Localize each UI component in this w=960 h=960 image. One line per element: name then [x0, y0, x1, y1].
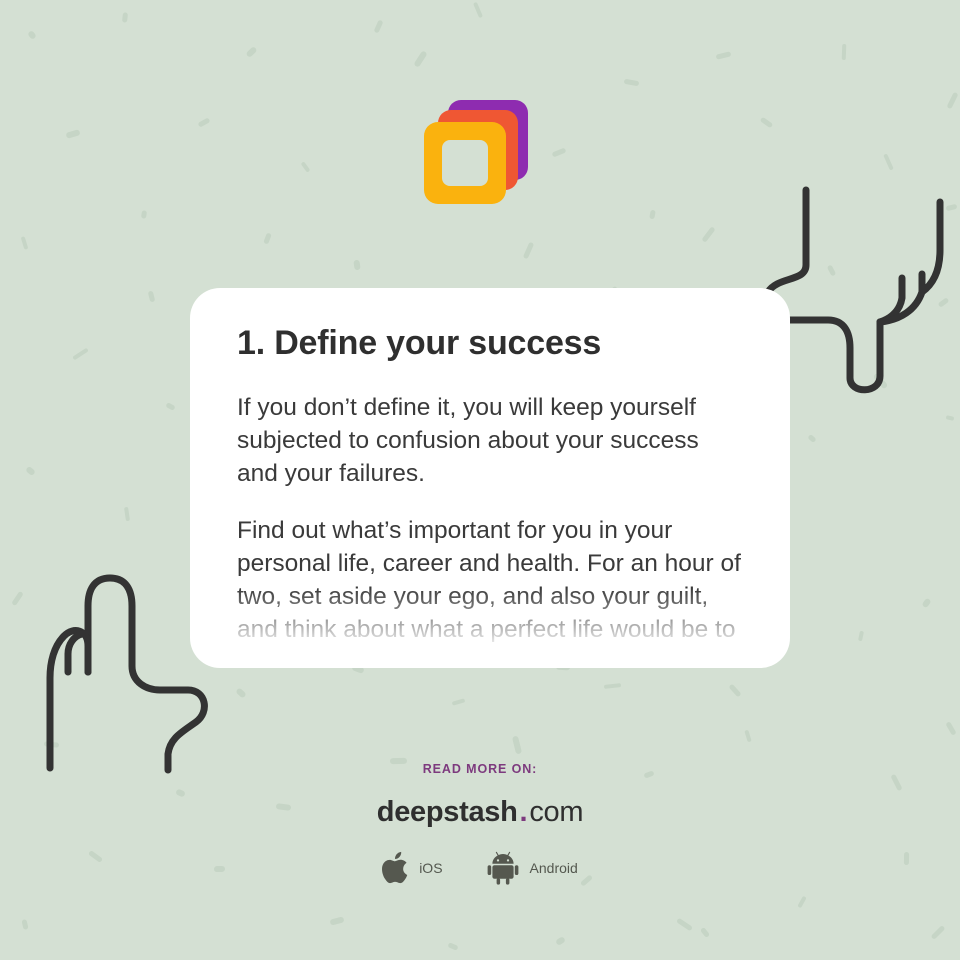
- confetti-speck: [624, 79, 640, 87]
- ios-store-label: iOS: [419, 860, 442, 876]
- card-paragraph-2: Find out what’s important for you in you…: [237, 514, 742, 668]
- android-icon: [487, 851, 521, 885]
- confetti-speck: [797, 896, 806, 908]
- confetti-speck: [807, 434, 816, 443]
- deepstash-logo: [424, 100, 528, 204]
- confetti-speck: [21, 919, 28, 930]
- app-store-badges: iOS Android: [0, 851, 960, 885]
- confetti-speck: [65, 129, 80, 139]
- read-more-label: READ MORE ON:: [0, 762, 960, 776]
- confetti-speck: [263, 232, 272, 244]
- confetti-speck: [235, 687, 246, 698]
- apple-icon: [382, 851, 410, 885]
- confetti-speck: [27, 30, 37, 40]
- confetti-speck: [473, 2, 483, 18]
- card-paragraph-1: If you don’t define it, you will keep yo…: [237, 391, 742, 490]
- confetti-speck: [931, 925, 946, 940]
- confetti-speck: [604, 683, 621, 689]
- confetti-speck: [25, 466, 36, 476]
- wordmark-tld: com: [529, 796, 583, 828]
- card-content: 1. Define your success If you don’t defi…: [190, 288, 790, 668]
- confetti-speck: [552, 148, 567, 158]
- idea-card: 1. Define your success If you don’t defi…: [190, 288, 790, 668]
- confetti-speck: [523, 242, 534, 260]
- confetti-speck: [329, 916, 344, 925]
- confetti-speck: [700, 927, 710, 938]
- confetti-speck: [165, 402, 175, 411]
- confetti-speck: [946, 415, 955, 421]
- confetti-speck: [716, 51, 732, 59]
- confetti-speck: [148, 291, 156, 303]
- confetti-speck: [124, 507, 130, 521]
- confetti-speck: [858, 631, 864, 642]
- confetti-speck: [842, 44, 847, 60]
- confetti-speck: [301, 161, 311, 172]
- wordmark-brand: deepstash: [377, 796, 518, 828]
- confetti-speck: [512, 736, 522, 755]
- poster-canvas: 1. Define your success If you don’t defi…: [0, 0, 960, 960]
- ios-store-badge[interactable]: iOS: [382, 851, 442, 885]
- confetti-speck: [945, 721, 956, 736]
- confetti-speck: [374, 20, 384, 34]
- confetti-speck: [122, 12, 128, 22]
- wordmark-dot: .: [518, 796, 530, 828]
- confetti-speck: [649, 210, 656, 220]
- card-title: 1. Define your success: [237, 324, 742, 363]
- confetti-speck: [447, 942, 458, 951]
- confetti-speck: [353, 260, 360, 271]
- confetti-speck: [883, 153, 894, 170]
- confetti-speck: [11, 591, 24, 606]
- confetti-speck: [827, 264, 836, 276]
- footer: READ MORE ON: deepstash.com iOS: [0, 762, 960, 885]
- confetti-speck: [760, 117, 774, 129]
- confetti-speck: [744, 730, 751, 743]
- android-store-badge[interactable]: Android: [487, 851, 578, 885]
- confetti-speck: [701, 226, 715, 243]
- confetti-speck: [947, 92, 959, 109]
- android-store-label: Android: [530, 860, 578, 876]
- confetti-speck: [413, 50, 427, 68]
- confetti-speck: [452, 698, 466, 705]
- confetti-speck: [72, 348, 88, 361]
- deepstash-wordmark[interactable]: deepstash.com: [0, 798, 960, 827]
- confetti-speck: [921, 598, 931, 609]
- confetti-speck: [676, 918, 693, 932]
- logo-cutout: [442, 140, 488, 186]
- confetti-speck: [728, 684, 741, 698]
- confetti-speck: [938, 297, 950, 308]
- confetti-speck: [555, 936, 566, 946]
- confetti-speck: [21, 236, 29, 250]
- confetti-speck: [141, 210, 147, 219]
- confetti-speck: [198, 117, 211, 127]
- confetti-speck: [44, 741, 59, 748]
- confetti-speck: [245, 46, 257, 58]
- confetti-speck: [946, 204, 958, 212]
- confetti-speck: [873, 373, 889, 390]
